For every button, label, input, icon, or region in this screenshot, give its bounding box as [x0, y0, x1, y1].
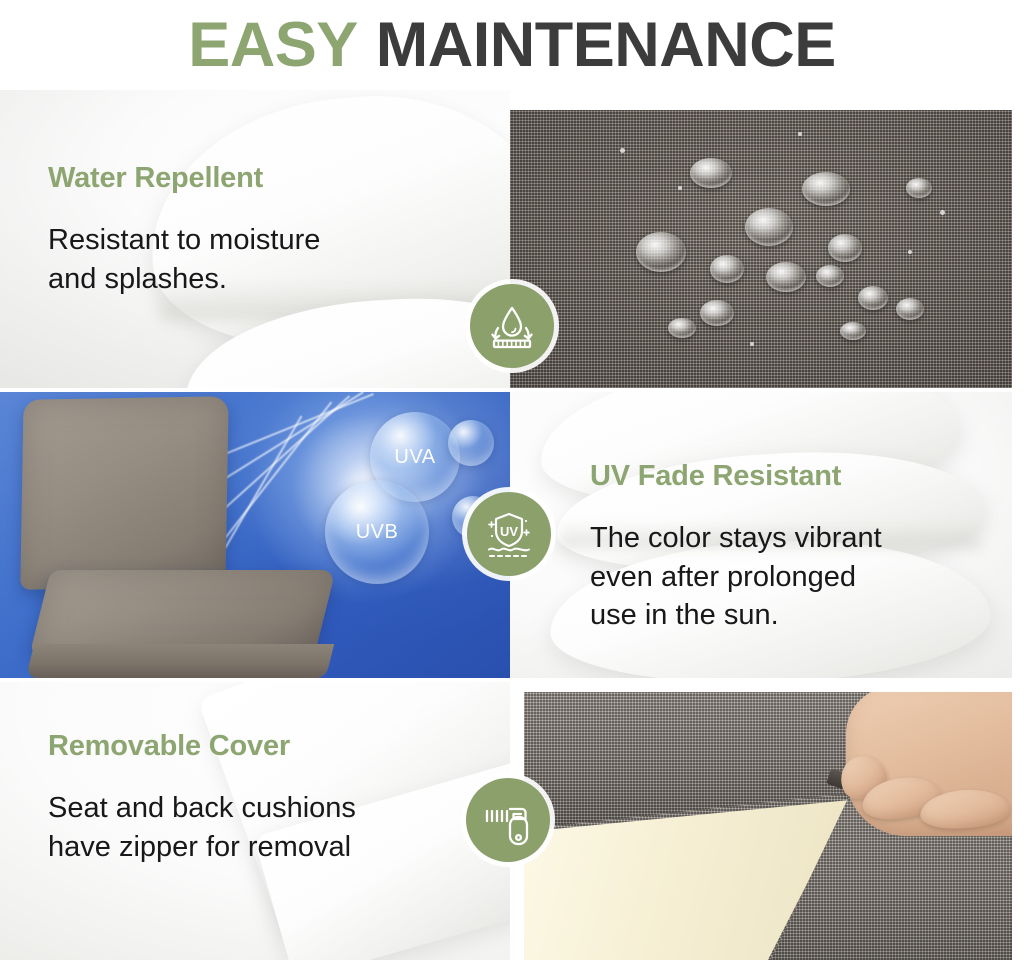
water-speck: [678, 186, 682, 190]
water-droplet: [668, 318, 696, 338]
section-body-line: Resistant to moisture: [48, 221, 320, 260]
text-block-water-repellent: Water Repellent Resistant to moisture an…: [48, 162, 320, 298]
water-droplet: [710, 255, 744, 283]
water-droplet: [896, 298, 924, 320]
water-droplet: [766, 262, 806, 292]
section-body-line: Seat and back cushions: [48, 789, 356, 828]
photo-uv-blue-chair: UVA UVB: [0, 392, 510, 678]
water-speck: [750, 342, 754, 346]
uv-bubble-label: UVA: [394, 446, 435, 469]
water-droplet: [858, 286, 888, 310]
panel-edge-right: [1012, 682, 1024, 968]
section-water-repellent: Water Repellent Resistant to moisture an…: [0, 90, 1024, 388]
title-word-easy: EASY: [188, 14, 358, 77]
section-heading: Removable Cover: [48, 730, 356, 763]
panel-edge-right: [1012, 392, 1024, 678]
water-droplet: [840, 322, 866, 340]
panel-edge-right: [1012, 90, 1024, 388]
section-heading: Water Repellent: [48, 162, 320, 195]
section-body-line: and splashes.: [48, 260, 320, 299]
badge-uv-fade-resistant[interactable]: UV: [467, 492, 551, 576]
section-uv-fade-resistant: UVA UVB UV Fade Resistant The color stay…: [0, 392, 1024, 678]
photo-zipper-open: [510, 682, 1024, 968]
text-block-uv-fade-resistant: UV Fade Resistant The color stays vibran…: [590, 460, 882, 635]
uv-bubble-uvb: UVB: [325, 480, 429, 584]
water-droplet: [816, 265, 844, 287]
seat-cushion-side: [26, 644, 334, 678]
uv-bubble-small: [448, 420, 494, 466]
section-body-line: even after prolonged: [590, 558, 882, 597]
section-body-line: use in the sun.: [590, 596, 882, 635]
section-removable-cover: Removable Cover Seat and back cushions h…: [0, 682, 1024, 968]
photo-edge-top: [510, 682, 1024, 692]
water-droplet: [700, 300, 734, 326]
back-cushion: [20, 396, 228, 590]
photo-water-droplets: [510, 90, 1024, 388]
uv-bubble-label: UVB: [356, 521, 399, 544]
badge-water-repellent[interactable]: [470, 284, 554, 368]
water-droplet: [802, 172, 850, 206]
uv-shield-icon: UV: [481, 506, 537, 562]
section-body-line: The color stays vibrant: [590, 519, 882, 558]
infographic-page: EASY MAINTENANCE: [0, 0, 1024, 968]
water-droplet: [828, 234, 862, 262]
section-body-line: have zipper for removal: [48, 828, 356, 867]
page-title: EASY MAINTENANCE: [0, 0, 1024, 90]
water-droplet: [745, 208, 793, 246]
panel-edge-bottom: [0, 960, 1024, 968]
text-block-removable-cover: Removable Cover Seat and back cushions h…: [48, 730, 356, 866]
water-speck: [798, 132, 802, 136]
title-word-maintenance: MAINTENANCE: [376, 14, 836, 77]
water-speck: [620, 148, 625, 153]
panel-edge-top: [510, 90, 1024, 110]
section-heading: UV Fade Resistant: [590, 460, 882, 493]
water-speck: [940, 210, 945, 215]
zipper-pull-icon: [480, 792, 536, 848]
water-droplet: [636, 232, 686, 272]
water-speck: [908, 250, 912, 254]
water-droplet: [690, 158, 732, 188]
svg-text:UV: UV: [500, 524, 518, 539]
badge-removable-cover[interactable]: [466, 778, 550, 862]
water-droplet-repel-icon: [484, 298, 540, 354]
water-droplet: [906, 178, 932, 198]
